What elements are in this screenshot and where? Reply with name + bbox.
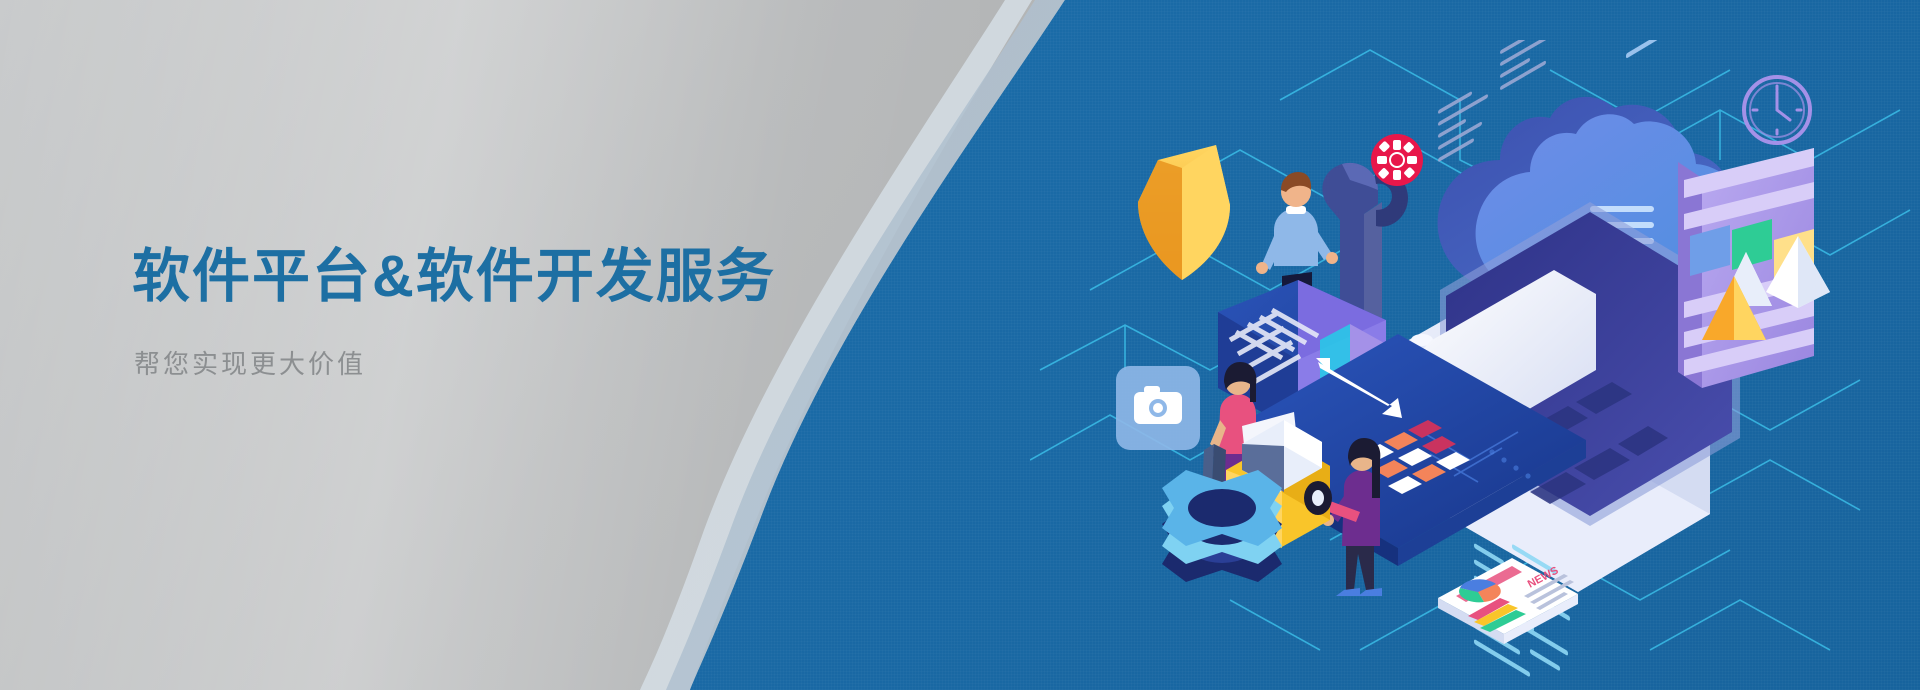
gear-stack-icon — [1162, 470, 1282, 582]
hero-illustration: NEWS — [1030, 40, 1920, 680]
news-report-card: NEWS — [1438, 558, 1578, 644]
page-title: 软件平台&软件开发服务 — [132, 243, 892, 310]
camera-icon — [1116, 366, 1200, 450]
gear-badge-icon — [1371, 134, 1423, 186]
hero-copy: 软件平台&软件开发服务 帮您实现更大价值 — [132, 243, 892, 381]
page-subtitle: 帮您实现更大价值 — [134, 344, 892, 381]
clock-icon — [1744, 77, 1810, 143]
hero-banner: 软件平台&软件开发服务 帮您实现更大价值 — [0, 0, 1920, 690]
code-lines-right — [1626, 40, 1684, 59]
